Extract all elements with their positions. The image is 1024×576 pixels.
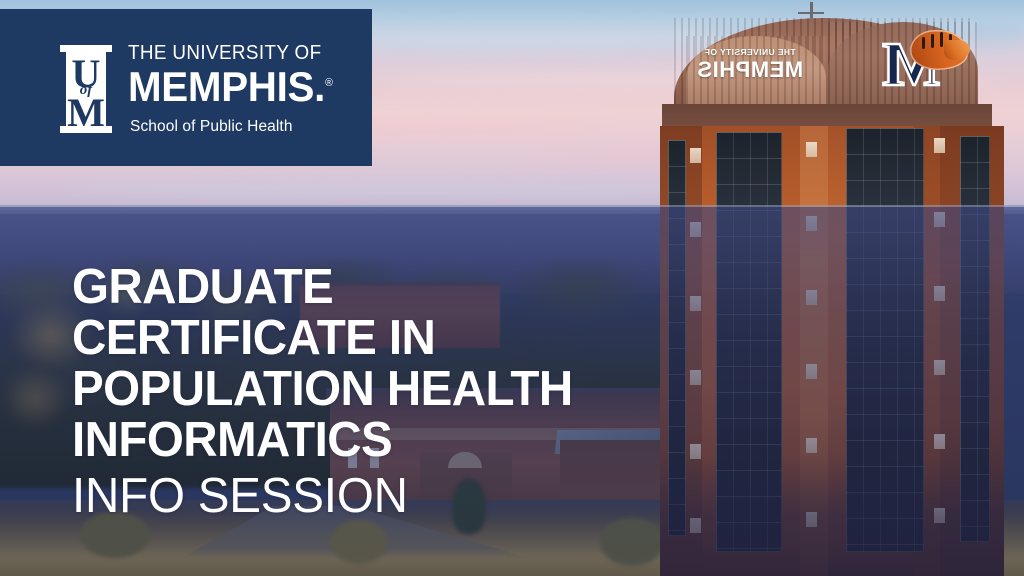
memphis-tigers-logo: M bbox=[878, 18, 970, 94]
info-session-poster: THE UNIVERSITY OF MEMPHIS M bbox=[0, 0, 1024, 576]
monogram-letter-m: M bbox=[60, 93, 112, 133]
antenna-crossbar bbox=[798, 12, 824, 14]
tiger-stripe bbox=[940, 32, 943, 47]
monogram-letters: U of M bbox=[60, 45, 112, 133]
cloud-streak bbox=[60, 182, 760, 196]
tower-sign-line-2: MEMPHIS bbox=[690, 59, 810, 81]
u-of-m-monogram-icon: U of M bbox=[60, 45, 112, 133]
facade-accent-block bbox=[806, 142, 817, 157]
facade-accent-block bbox=[690, 148, 701, 163]
shrub bbox=[600, 518, 664, 566]
facade-accent-block bbox=[934, 212, 945, 227]
university-wordmark: THE UNIVERSITY OF MEMPHIS.® School of Pu… bbox=[128, 43, 341, 136]
facade-accent-block bbox=[690, 222, 701, 237]
wordmark-the-university-of: THE UNIVERSITY OF bbox=[128, 43, 324, 64]
registered-trademark-icon: ® bbox=[325, 77, 333, 89]
wordmark-memphis: MEMPHIS.® bbox=[128, 66, 333, 109]
facade-accent-block bbox=[934, 360, 945, 375]
facade-accent-block bbox=[934, 286, 945, 301]
facade-accent-block bbox=[806, 364, 817, 379]
shrub bbox=[330, 520, 388, 564]
headline-line-3: POPULATION HEALTH bbox=[72, 364, 732, 415]
facade-accent-block bbox=[806, 290, 817, 305]
tower-signage: THE UNIVERSITY OF MEMPHIS bbox=[690, 48, 810, 104]
tower-sign-line-1: THE UNIVERSITY OF bbox=[690, 48, 810, 57]
autumn-foliage bbox=[0, 366, 70, 430]
facade-accent-block bbox=[934, 508, 945, 523]
tower-facet bbox=[800, 126, 828, 576]
window-bay bbox=[960, 136, 990, 542]
school-of-public-health-label: School of Public Health bbox=[130, 118, 341, 136]
facade-accent-block bbox=[806, 216, 817, 231]
facade-accent-block bbox=[934, 138, 945, 153]
window-bay bbox=[846, 128, 924, 552]
overlay-top-edge bbox=[0, 205, 1024, 207]
wordmark-period: . bbox=[314, 63, 325, 110]
headline-block: GRADUATE CERTIFICATE IN POPULATION HEALT… bbox=[72, 262, 752, 524]
headline-line-2: CERTIFICATE IN bbox=[72, 313, 732, 364]
facade-accent-block bbox=[806, 438, 817, 453]
facade-accent-block bbox=[934, 434, 945, 449]
wordmark-memphis-text: MEMPHIS bbox=[128, 63, 314, 110]
headline-line-1: GRADUATE bbox=[72, 262, 732, 313]
tiger-stripe bbox=[931, 34, 934, 48]
university-logo-box: U of M THE UNIVERSITY OF MEMPHIS.® Schoo… bbox=[0, 9, 372, 166]
headline-line-4: INFORMATICS bbox=[72, 415, 732, 466]
logo-lockup: U of M THE UNIVERSITY OF MEMPHIS.® Schoo… bbox=[60, 43, 341, 136]
facade-accent-block bbox=[806, 512, 817, 527]
tiger-stripe bbox=[922, 37, 925, 49]
headline-subtitle: INFO SESSION bbox=[72, 468, 732, 524]
